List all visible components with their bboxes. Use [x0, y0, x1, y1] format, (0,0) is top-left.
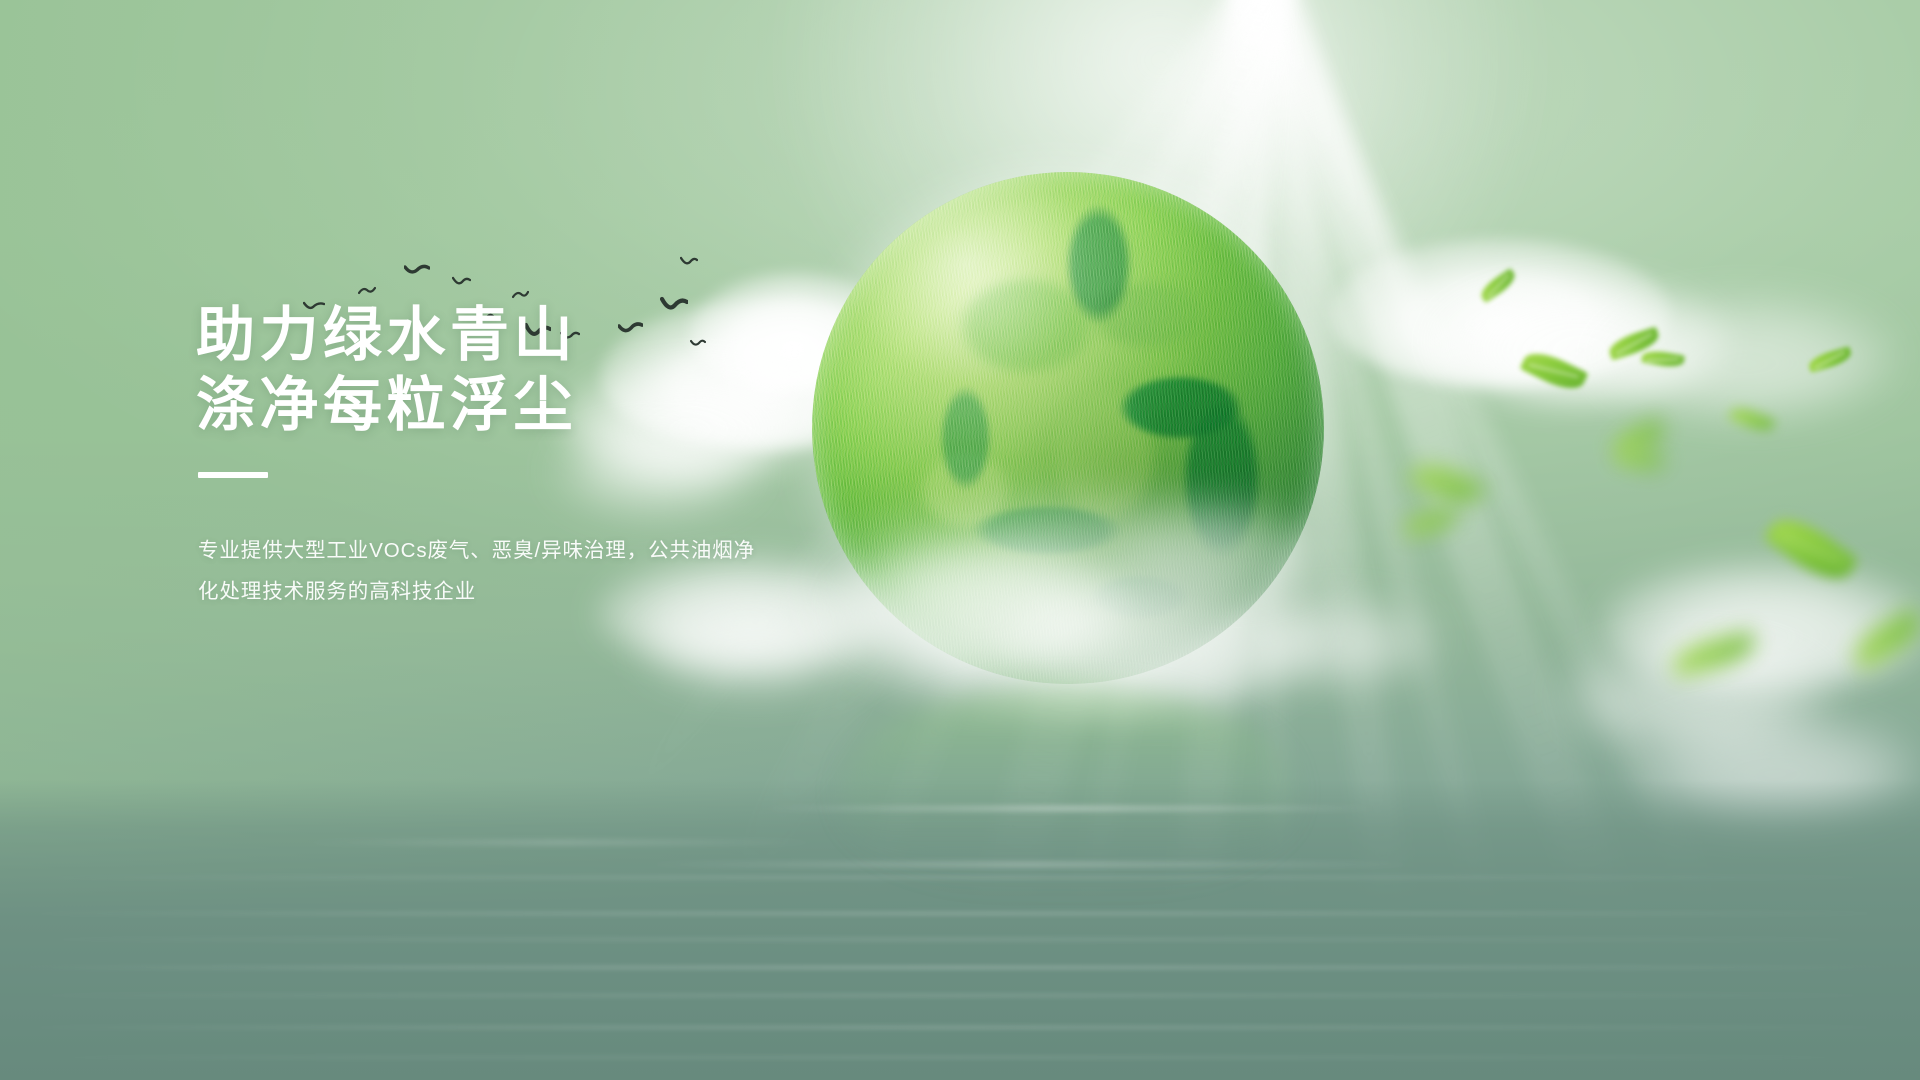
divider-bar — [198, 472, 268, 478]
bird-icon — [404, 262, 430, 278]
headline-line-2: 涤净每粒浮尘 — [196, 370, 896, 440]
eco-hero-banner: 助力绿水青山 涤净每粒浮尘 专业提供大型工业VOCs废气、恶臭/异味治理，公共油… — [0, 0, 1920, 1080]
subtitle-line-1: 专业提供大型工业VOCs废气、恶臭/异味治理，公共油烟净 — [198, 530, 896, 571]
page-title: 助力绿水青山 涤净每粒浮尘 — [196, 300, 896, 440]
bird-icon — [452, 276, 471, 288]
bird-icon — [680, 256, 698, 268]
headline-line-1: 助力绿水青山 — [196, 300, 896, 370]
water-ripple — [300, 840, 820, 845]
subtitle-line-2: 化处理技术服务的高科技企业 — [198, 571, 896, 612]
bird-icon — [358, 286, 376, 297]
water-ripple — [640, 862, 1420, 867]
hero-subtitle: 专业提供大型工业VOCs废气、恶臭/异味治理，公共油烟净 化处理技术服务的高科技… — [198, 530, 896, 612]
water-ripple — [760, 806, 1380, 811]
hero-copy-block: 助力绿水青山 涤净每粒浮尘 专业提供大型工业VOCs废气、恶臭/异味治理，公共油… — [196, 300, 896, 612]
